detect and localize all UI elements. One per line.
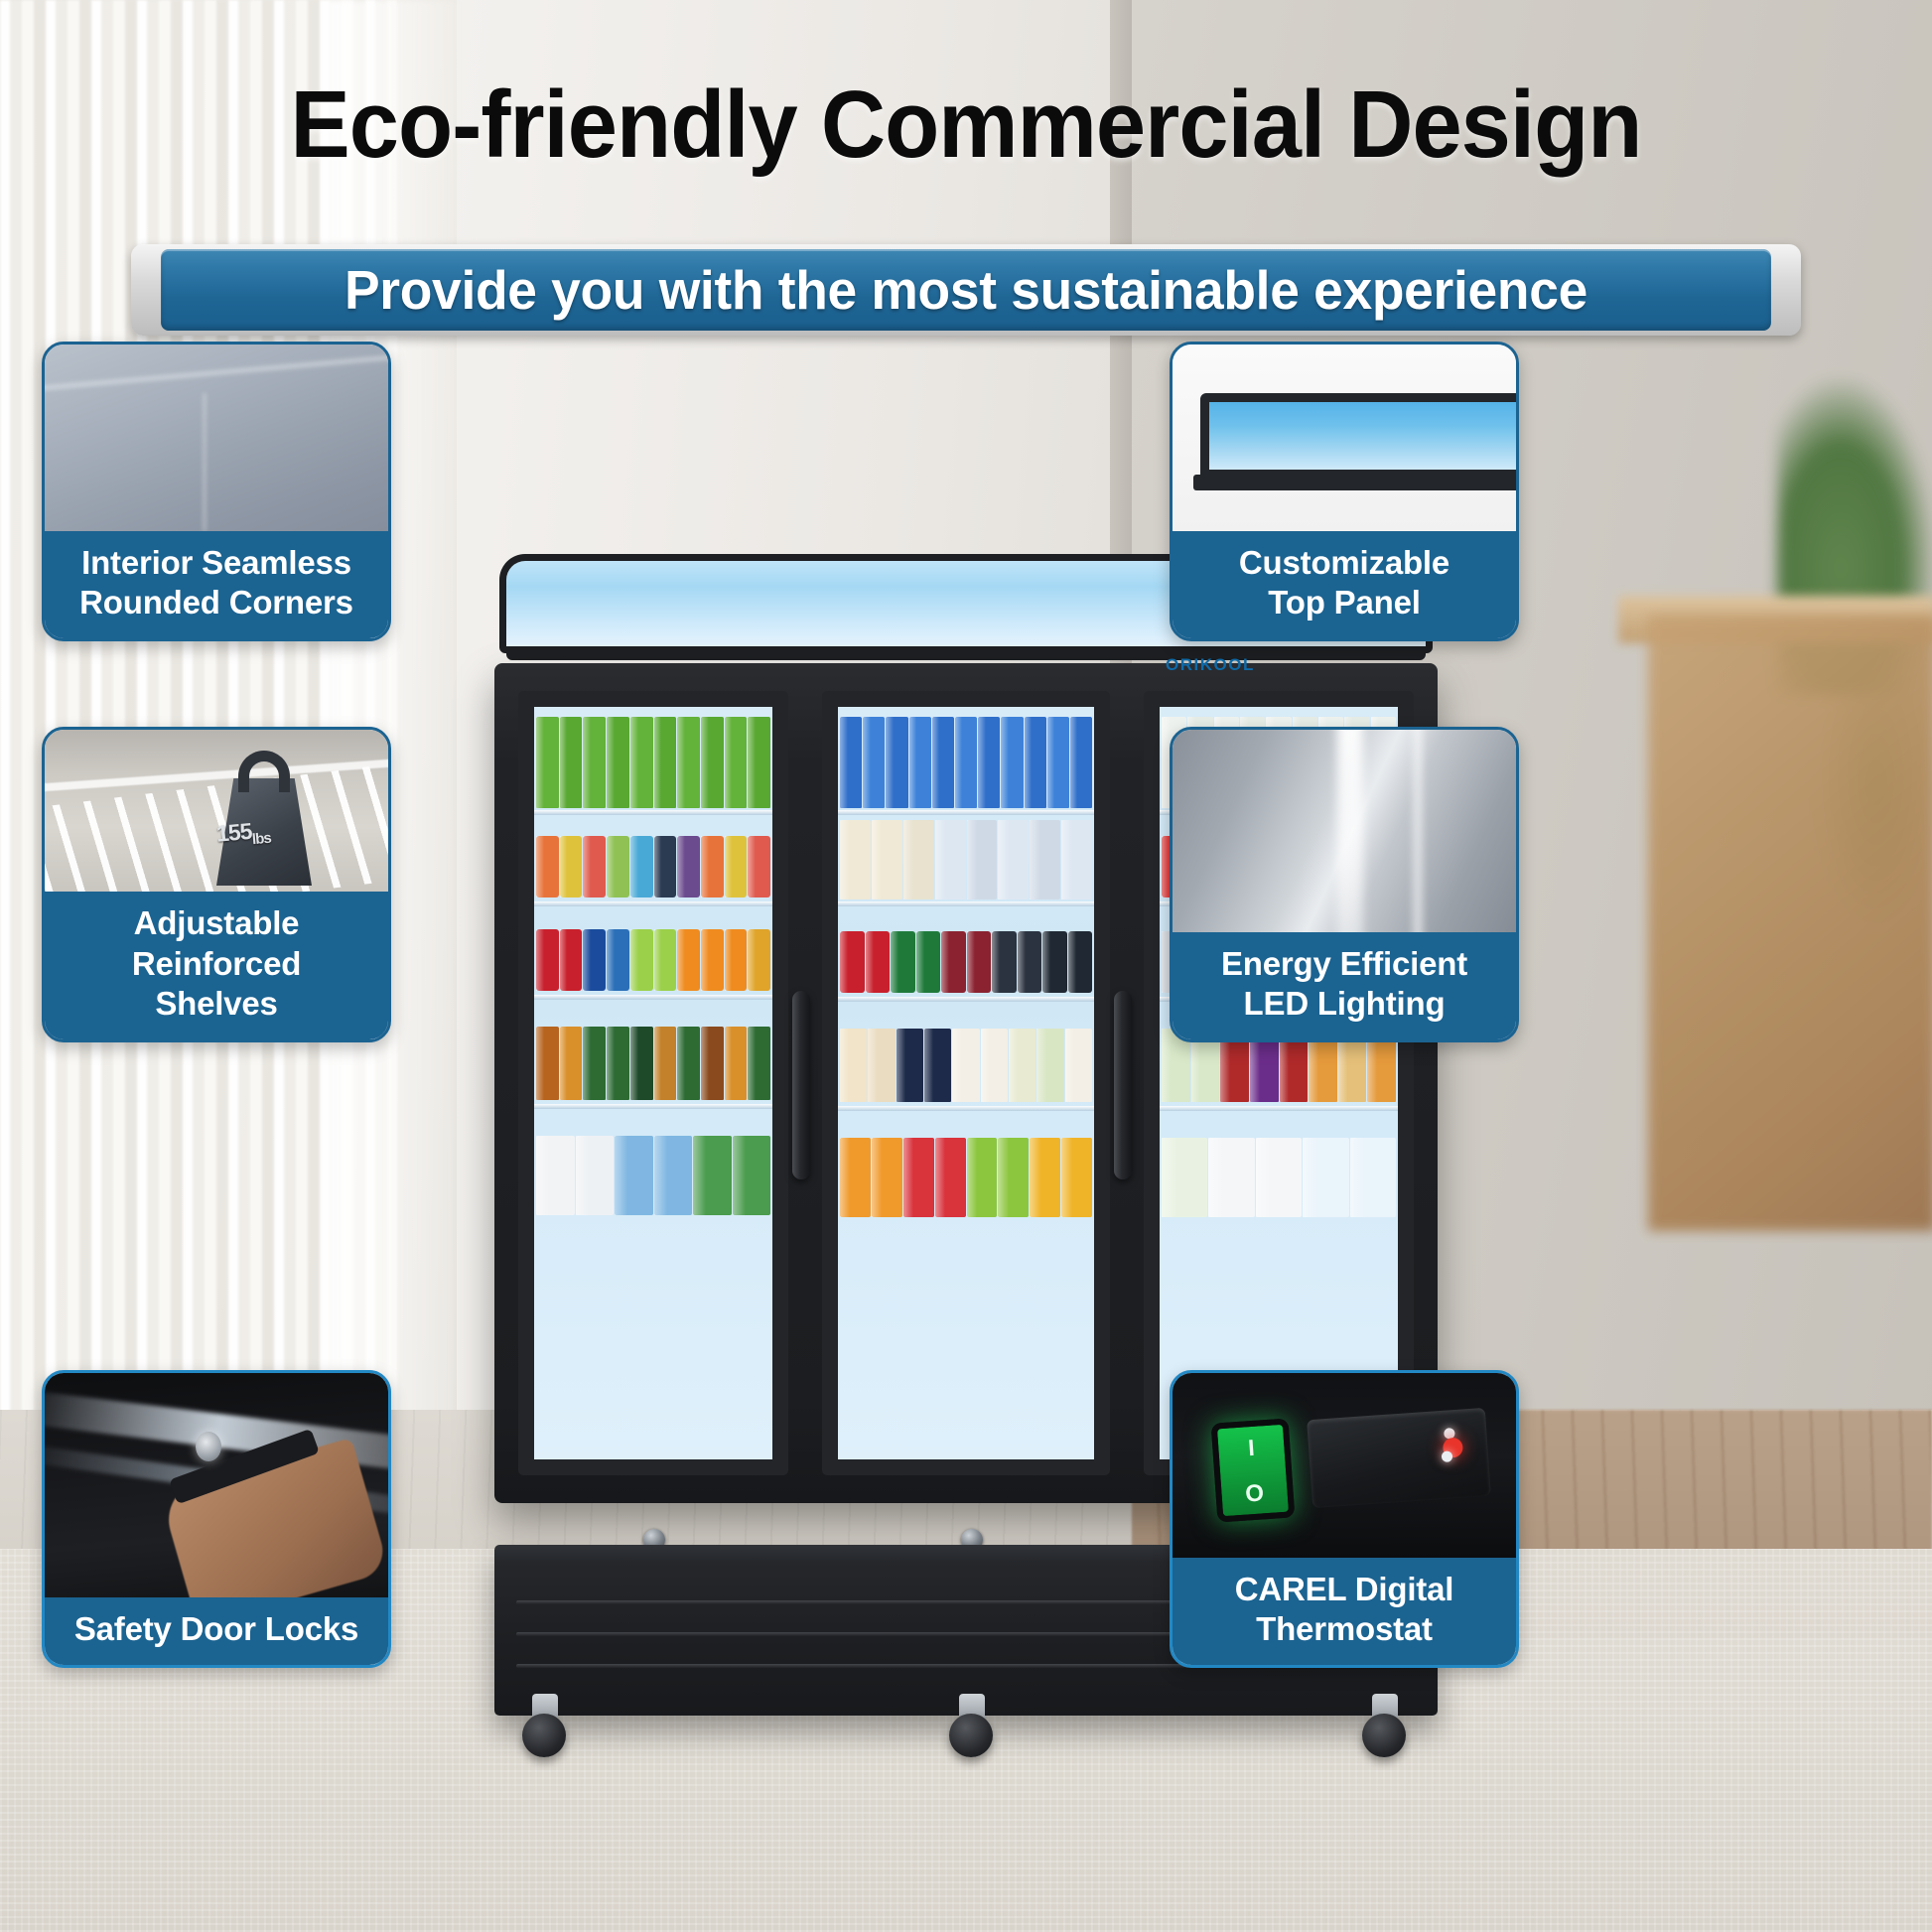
feature-photo-shelves: 155lbs [45, 730, 388, 892]
caption-line-2: Thermostat [1180, 1609, 1508, 1649]
caption-line-1: Energy Efficient [1180, 944, 1508, 984]
feature-caption-top-panel: Customizable Top Panel [1173, 531, 1516, 639]
weight-value: 155 [215, 817, 253, 846]
led-strip-secondary-icon [1413, 730, 1423, 932]
caption-line-1: Adjustable Reinforced [53, 903, 380, 984]
caster-wheel-left [516, 1694, 572, 1755]
feature-card-customizable-top-panel: Customizable Top Panel [1170, 342, 1519, 641]
feature-photo-door-lock [45, 1373, 388, 1597]
feature-card-carel-thermostat: CAREL Digital Thermostat [1170, 1370, 1519, 1668]
caption-line-1: Interior Seamless [53, 543, 380, 583]
caster-wheel-right [1356, 1694, 1412, 1755]
feature-photo-interior-corners [45, 345, 388, 531]
subtitle-text: Provide you with the most sustainable ex… [161, 249, 1771, 331]
caption-line-1: Safety Door Locks [53, 1609, 380, 1649]
top-panel-base [1193, 475, 1516, 490]
caption-line-2: LED Lighting [1180, 984, 1508, 1024]
feature-photo-top-panel [1173, 345, 1516, 531]
thermostat-unit-icon [1308, 1408, 1492, 1508]
feature-card-led-lighting: Energy Efficient LED Lighting [1170, 727, 1519, 1042]
glass-door-center[interactable] [822, 691, 1110, 1475]
weight-unit: lbs [251, 829, 271, 848]
door-handle-center[interactable] [1114, 991, 1132, 1179]
feature-photo-led [1173, 730, 1516, 932]
page-title: Eco-friendly Commercial Design [58, 77, 1873, 173]
caption-line-2: Top Panel [1180, 583, 1508, 622]
brand-logo: ORIKOOL [1166, 655, 1255, 675]
feature-card-safety-door-locks: Safety Door Locks [42, 1370, 391, 1668]
feature-card-adjustable-shelves: 155lbs Adjustable Reinforced Shelves [42, 727, 391, 1042]
key-icon [196, 1432, 221, 1461]
feature-caption-led: Energy Efficient LED Lighting [1173, 932, 1516, 1040]
feature-card-interior-rounded-corners: Interior Seamless Rounded Corners [42, 342, 391, 641]
feature-caption-door-lock: Safety Door Locks [45, 1597, 388, 1665]
feature-caption-shelves: Adjustable Reinforced Shelves [45, 892, 388, 1039]
power-rocker-switch-icon [1210, 1419, 1295, 1523]
infographic-stage: Eco-friendly Commercial Design Provide y… [0, 0, 1932, 1932]
subtitle-banner: Provide you with the most sustainable ex… [131, 244, 1801, 336]
furniture-cabinet [1648, 616, 1932, 1231]
caption-line-1: Customizable [1180, 543, 1508, 583]
feature-caption-thermostat: CAREL Digital Thermostat [1173, 1558, 1516, 1666]
caption-line-1: CAREL Digital [1180, 1570, 1508, 1609]
caption-line-2: Shelves [53, 984, 380, 1024]
feature-photo-thermostat [1173, 1373, 1516, 1558]
caster-wheel-center [943, 1694, 999, 1755]
glass-door-left[interactable] [518, 691, 788, 1475]
door-handle-left[interactable] [792, 991, 810, 1179]
weight-handle-icon [238, 751, 290, 792]
caption-line-2: Rounded Corners [53, 583, 380, 622]
feature-caption-interior-corners: Interior Seamless Rounded Corners [45, 531, 388, 639]
top-panel-mockup [1200, 393, 1516, 479]
led-strip-icon [1337, 730, 1363, 932]
